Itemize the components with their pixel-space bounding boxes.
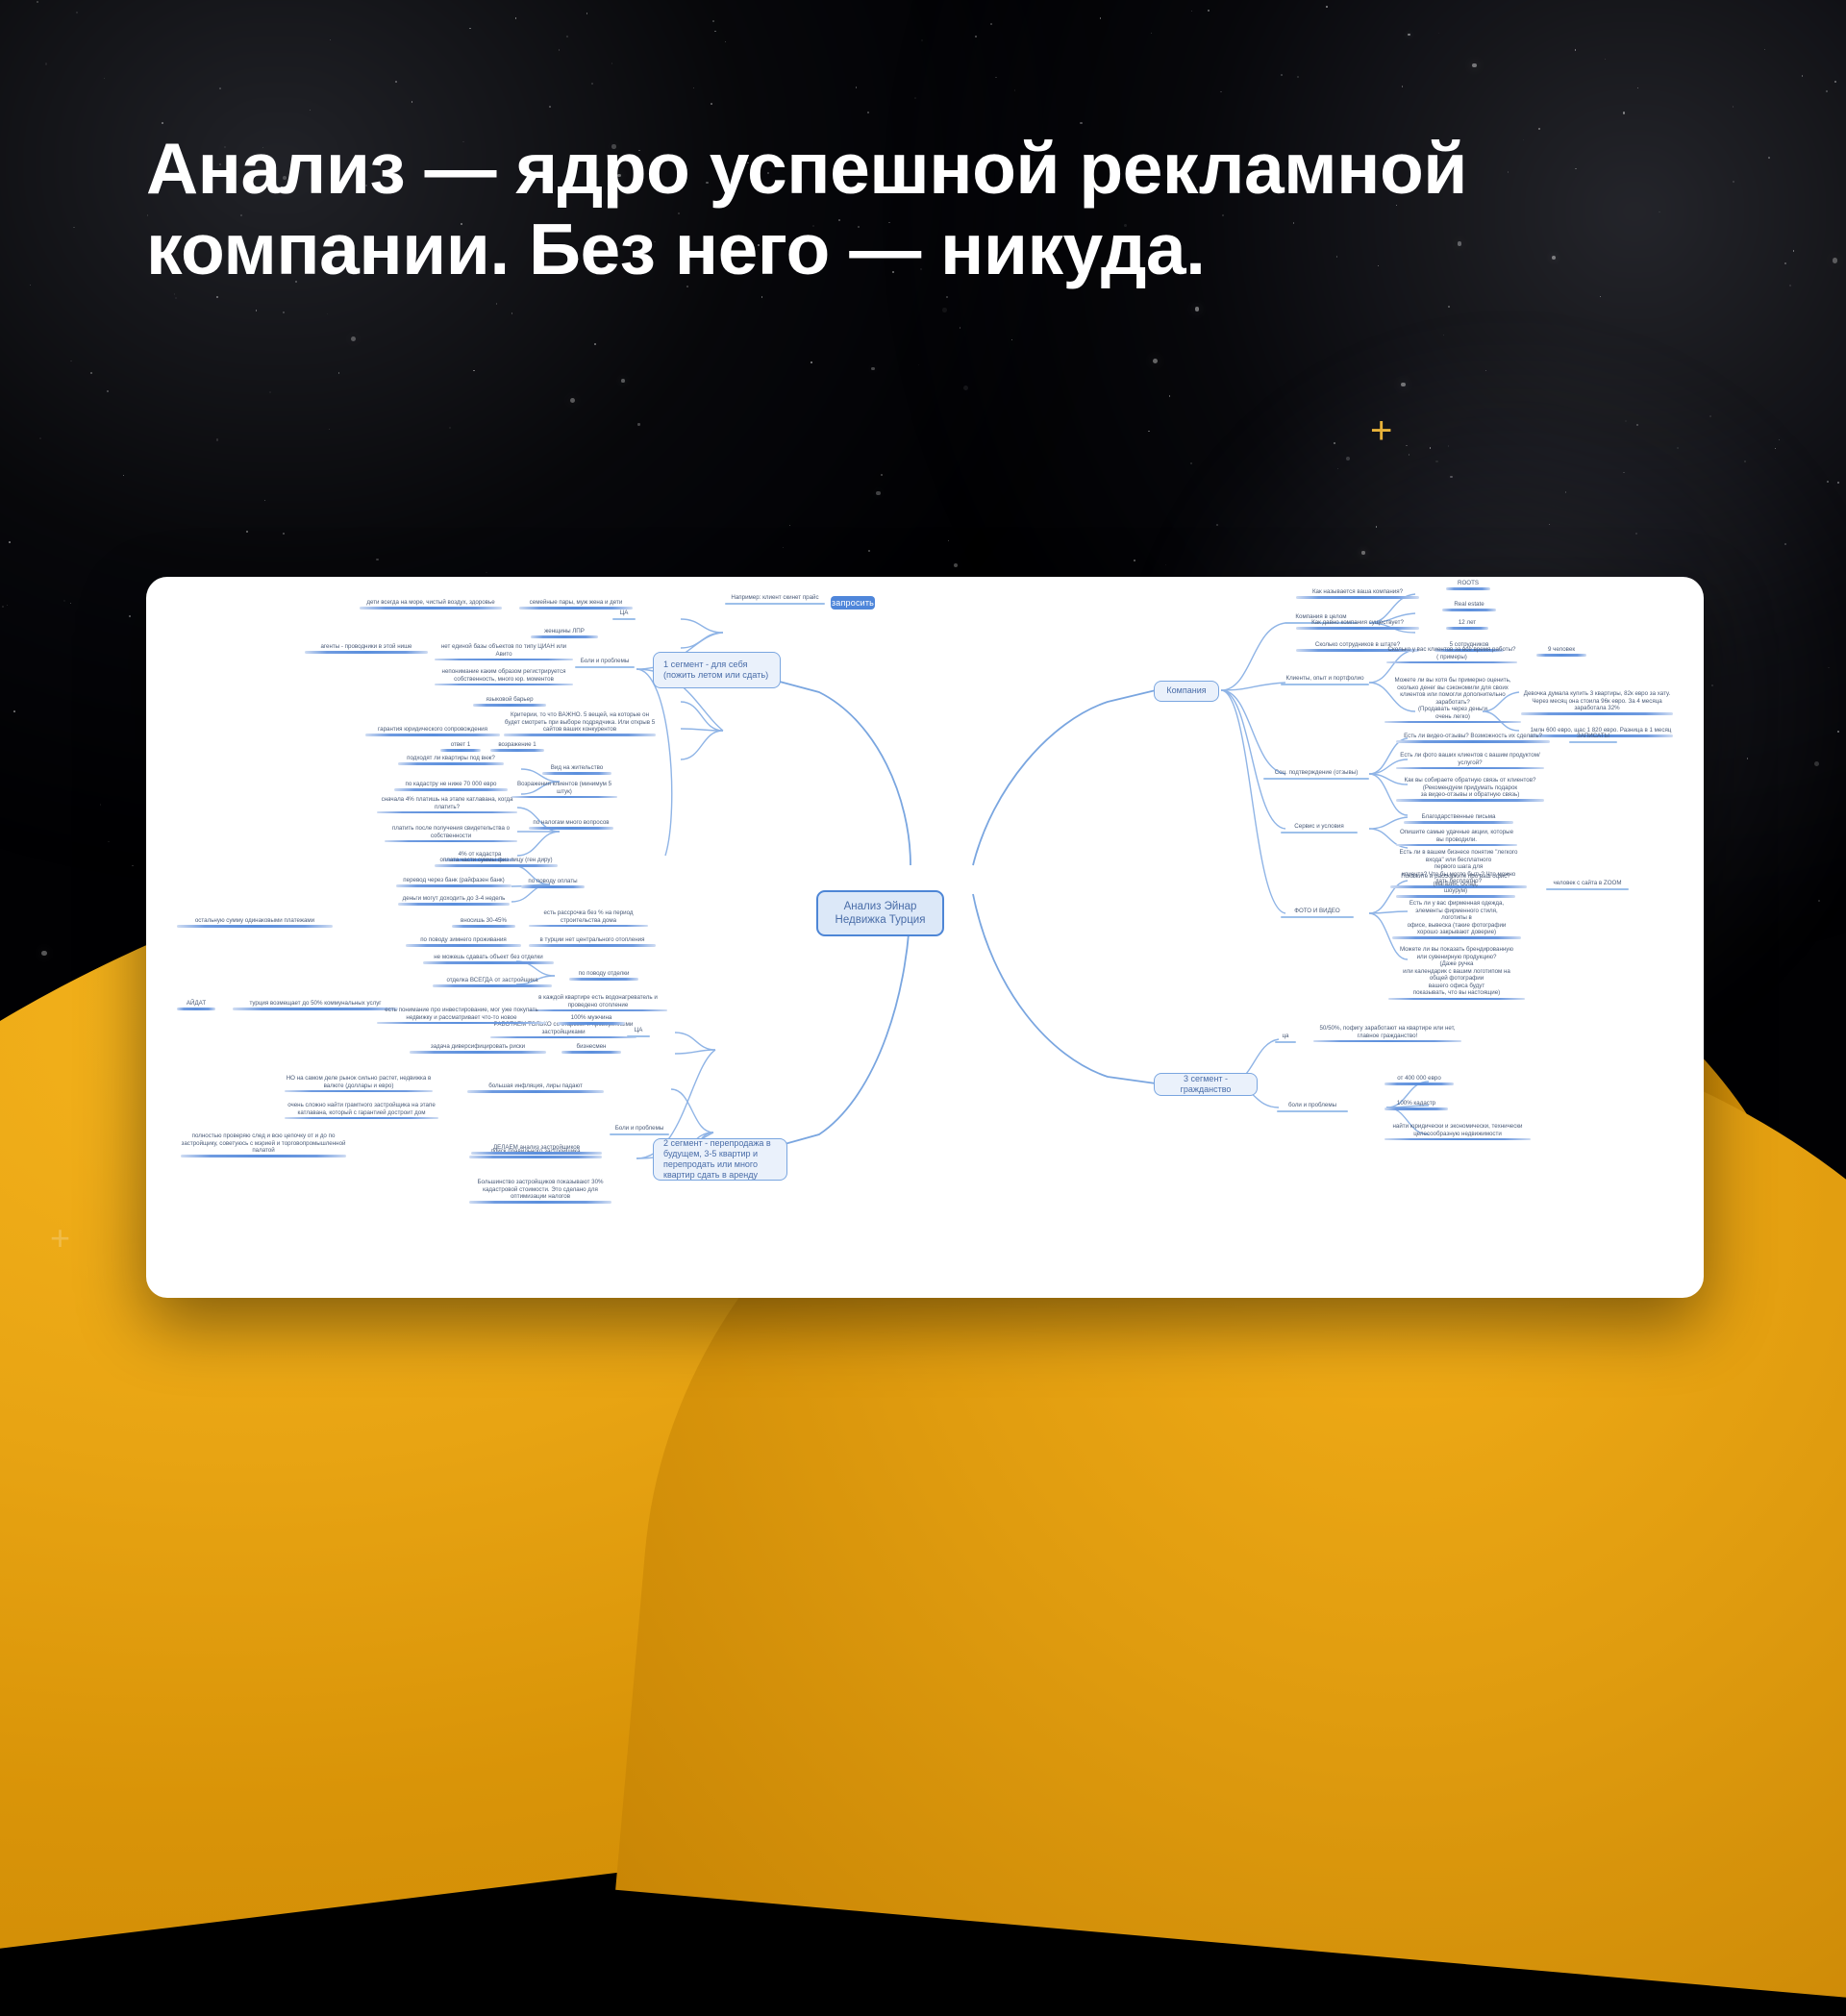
segment1-ca-item: женщины ЛПР [531,628,598,635]
segment2-pain-detail: очень сложно найти грамтного застройщика… [285,1102,438,1116]
segment1-winter-extra: в каждой квартире есть водонагреватель и… [529,994,667,1008]
segment3-node[interactable]: 3 сегмент - гражданство [1154,1073,1258,1096]
segment1-payment-item: перевод через банк (райфазен банк) [396,877,511,884]
segment3-pain-label: боли и проблемы [1277,1102,1348,1109]
company-question: Сколько у вас клиентов за все время рабо… [1386,646,1517,660]
segment2-ca-detail: есть понимание про инвестирование, мог у… [377,1007,546,1021]
company-answer: ЗАПИСАТЫ [1569,733,1617,740]
company-question: Есть ли у вас фирменная одежда, элементы… [1392,900,1521,936]
segment2-node[interactable]: 2 сегмент - перепродажа в будущем, 3-5 к… [653,1138,787,1181]
company-answer: человек с сайта в ZOOM [1546,880,1629,887]
segment1-taxes-label: по налогам много вопросов [529,819,613,827]
segment1-ca-item: семейные пары, муж жена и дети [519,599,633,607]
segment2-pain-label: Боли и проблемы [610,1125,669,1132]
segment1-aidat-label: АЙДАТ [177,1000,215,1008]
segment1-payment-label: по поводу оплаты [521,878,585,885]
segment1-vnzh-item: подходят ли квартиры под внж? [398,755,504,762]
segment1-note: Например: клиент скинет прайс [725,594,825,602]
company-answer: Real estate [1442,601,1496,609]
segment3-ca-label: ца [1275,1033,1296,1040]
segment2-ca-detail: задача диверсифицировать риски [410,1043,546,1051]
segment1-criteria: Критерии, то что ВАЖНО. 5 вещей, на кото… [504,711,656,734]
request-button[interactable]: запросить [831,596,875,610]
company-service-label: Сервис и условия [1281,823,1358,831]
segment1-node[interactable]: 1 сегмент - для себя (пожить летом или с… [653,652,781,688]
segment2-pain-detail: НО на самом деле рынок сильно растет, не… [285,1075,433,1089]
segment1-finishing-label: по поводу отделки [569,970,638,978]
segment1-aidat-detail: турция возмещает до 50% коммунальных усл… [233,1000,398,1008]
segment2-ca-label: ЦА [627,1027,650,1034]
plus-mark-icon: + [50,1221,70,1256]
company-social-label: Соц. подтверждение (отзывы) [1263,769,1369,777]
segment1-installment: есть рассрочка без % на период строитель… [529,909,648,924]
segment1-payment-item: оплата части суммы физ лицу (ген диру) [435,857,558,864]
segment3-ca-item: 50/50%, пофигу заработают на квартире ил… [1313,1025,1461,1039]
segment1-pain-detail: агенты - проводники в этой нише [305,643,428,651]
segment3-pain-item: найти юридически и экономически, техниче… [1384,1123,1531,1137]
segment1-installment-detail: вносишь 30-45% [452,917,515,925]
segment2-analysis-label: ДЕЛАЕМ анализ застройщиков [471,1144,602,1152]
company-node[interactable]: Компания [1154,681,1219,702]
page-title: Анализ — ядро успешной рекламной компани… [146,128,1761,289]
segment1-winter-item: в турции нет центрального отопления [529,936,656,944]
company-question: Благодарственные письма [1404,813,1513,821]
company-question: Как вы собираете обратную связь от клиен… [1396,777,1544,799]
segment3-pain-item: от 400 000 евро [1384,1075,1454,1083]
segment1-ca-label: ЦА [612,610,636,617]
segment1-winter-label: по поводу зимнего проживания [406,936,521,944]
segment1-pain-item: языковой барьер [473,696,546,704]
segment1-vnzh-label: Вид на жительство [542,764,611,772]
segment2-ca-item: 100% мужчина [558,1014,625,1022]
segment1-vnzh-item: по кадастру не ниже 70 000 евро [394,781,508,788]
company-question: Покажите и расскажите про ваш офис? (маг… [1396,873,1515,895]
segment1-pain-item: непонимание каким образом регистрируется… [435,668,573,683]
mindmap-card: Анализ Эйнар Недвижка Турция 1 сегмент -… [146,577,1704,1298]
company-question: Как давно компания существует? [1296,619,1419,627]
segment1-installment-extra: остальную сумму одинаковыми платежами [177,917,333,925]
segment1-taxes-item: платить после получения свидетельства о … [385,825,517,839]
company-question: Можете ли вы хотя бы примерно оценить, с… [1384,677,1521,720]
segment1-ca-detail: дети всегда на море, чистый воздух, здор… [360,599,502,607]
segment1-taxes-item: сначала 4% платишь на этапе катлавана, к… [377,796,517,810]
segment2-pain-item: большая инфляция, лиры падают [467,1083,604,1090]
segment1-pain-item: нет единой базы объектов по типу ЦИАН ил… [435,643,573,658]
company-question: Можете ли вы показать брендированную или… [1388,946,1525,997]
company-answer: 12 лет [1446,619,1488,627]
segment1-finishing-item: отделка ВСЕГДА от застройщика [433,977,552,984]
segment1-finishing-item: не можешь сдавать объект без отделки [423,954,554,961]
company-answer: 9 человек [1536,646,1586,654]
segment1-guarantee: гарантия юридического сопровождения [365,726,500,734]
segment1-payment-item: деньги могут доходить до 3-4 недель [398,895,510,903]
segment1-objections-label: Возражения клиентов (минимум 5 штук) [511,781,617,795]
company-question: Как называется ваша компания? [1296,588,1419,596]
company-answer: ROOTS [1446,580,1490,587]
segment1-pain-label: Боли и проблемы [575,658,635,665]
segment2-analysis-detail: полностью проверяю след и всю цепочку от… [181,1132,346,1155]
company-photo-label: ФОТО И ВИДЕО [1281,908,1354,915]
segment1-answer1: ответ 1 [440,741,481,749]
company-question: Опишите самые удачные акции, которые вы … [1396,829,1517,843]
segment3-pain-item: 100% кадастр [1384,1100,1448,1108]
mindmap-center-node[interactable]: Анализ Эйнар Недвижка Турция [816,890,944,936]
company-question: Есть ли видео-отзывы? Возможность их сде… [1396,733,1550,740]
company-answer: Девочка думала купить 3 квартиры, 82к ев… [1521,690,1673,712]
company-clients-label: Клиенты, опыт и портфолио [1281,675,1369,683]
plus-mark-icon: + [1370,411,1392,450]
mindmap-canvas[interactable]: Анализ Эйнар Недвижка Турция 1 сегмент -… [146,577,1704,1298]
segment1-objection1: возражение 1 [490,741,544,749]
segment2-ca-item: бизнесмен [561,1043,621,1051]
segment2-cadastre-note: Большинство застройщиков показывают 30% … [469,1179,611,1201]
company-question: Есть ли фото ваших клиентов с вашим прод… [1396,752,1544,766]
